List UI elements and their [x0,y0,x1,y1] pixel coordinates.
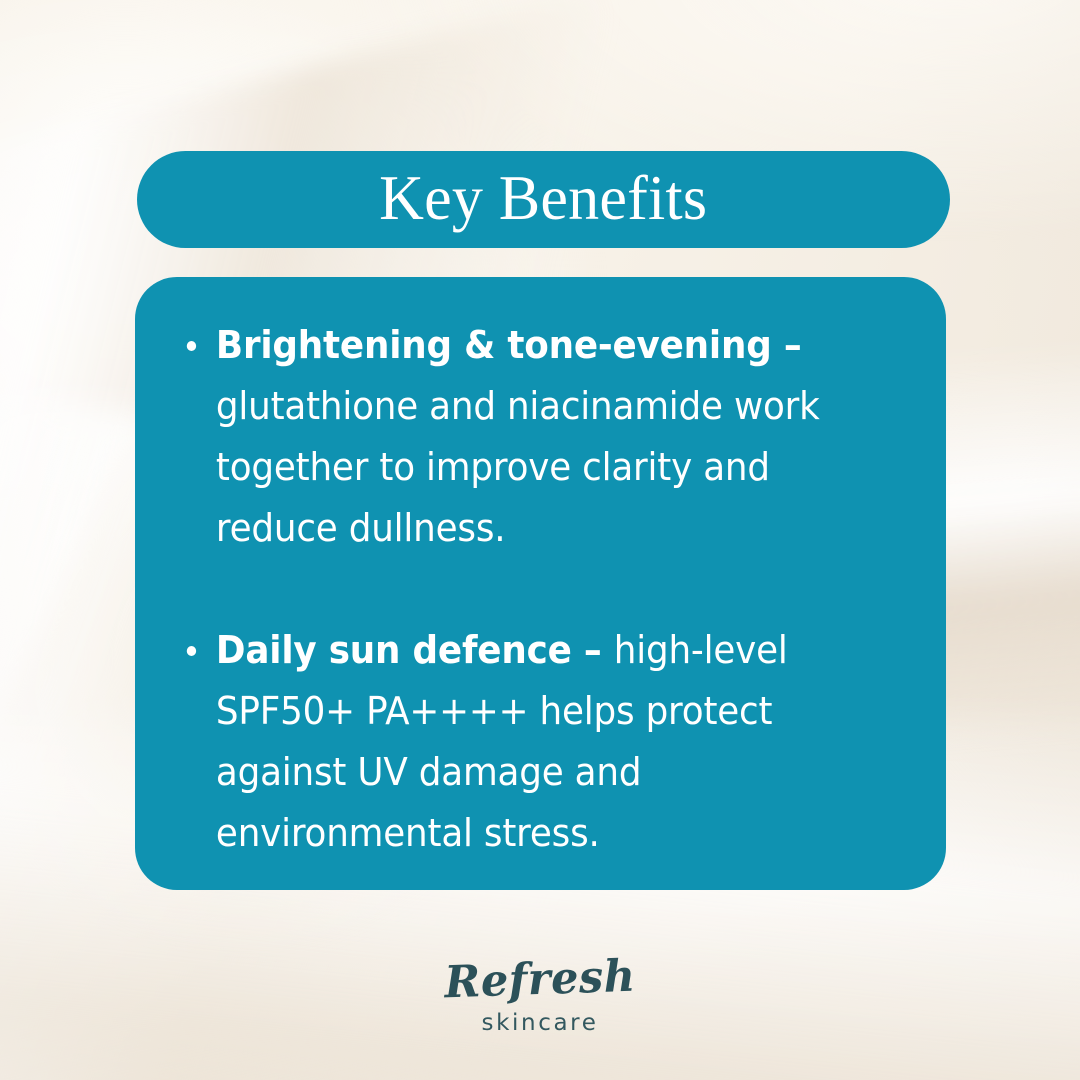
list-item: Daily sun defence – high-level SPF50+ PA… [183,620,859,864]
bullet-dot-icon [187,341,196,351]
benefits-list: Brightening & tone-evening – glutathione… [183,315,902,864]
poster-canvas: Key Benefits Brightening & tone-evening … [0,0,1080,1080]
brand-logo: Refresh skincare [0,955,1080,1037]
bullet-dot-icon [187,646,196,656]
benefit-body: glutathione and niacinamide work togethe… [216,384,820,550]
benefit-lead: Brightening & tone-evening – [216,323,802,367]
benefit-lead: Daily sun defence – [216,628,614,672]
title-pill: Key Benefits [137,151,950,248]
page-title: Key Benefits [379,166,707,234]
benefits-card: Brightening & tone-evening – glutathione… [135,277,946,890]
list-item: Brightening & tone-evening – glutathione… [183,315,859,559]
